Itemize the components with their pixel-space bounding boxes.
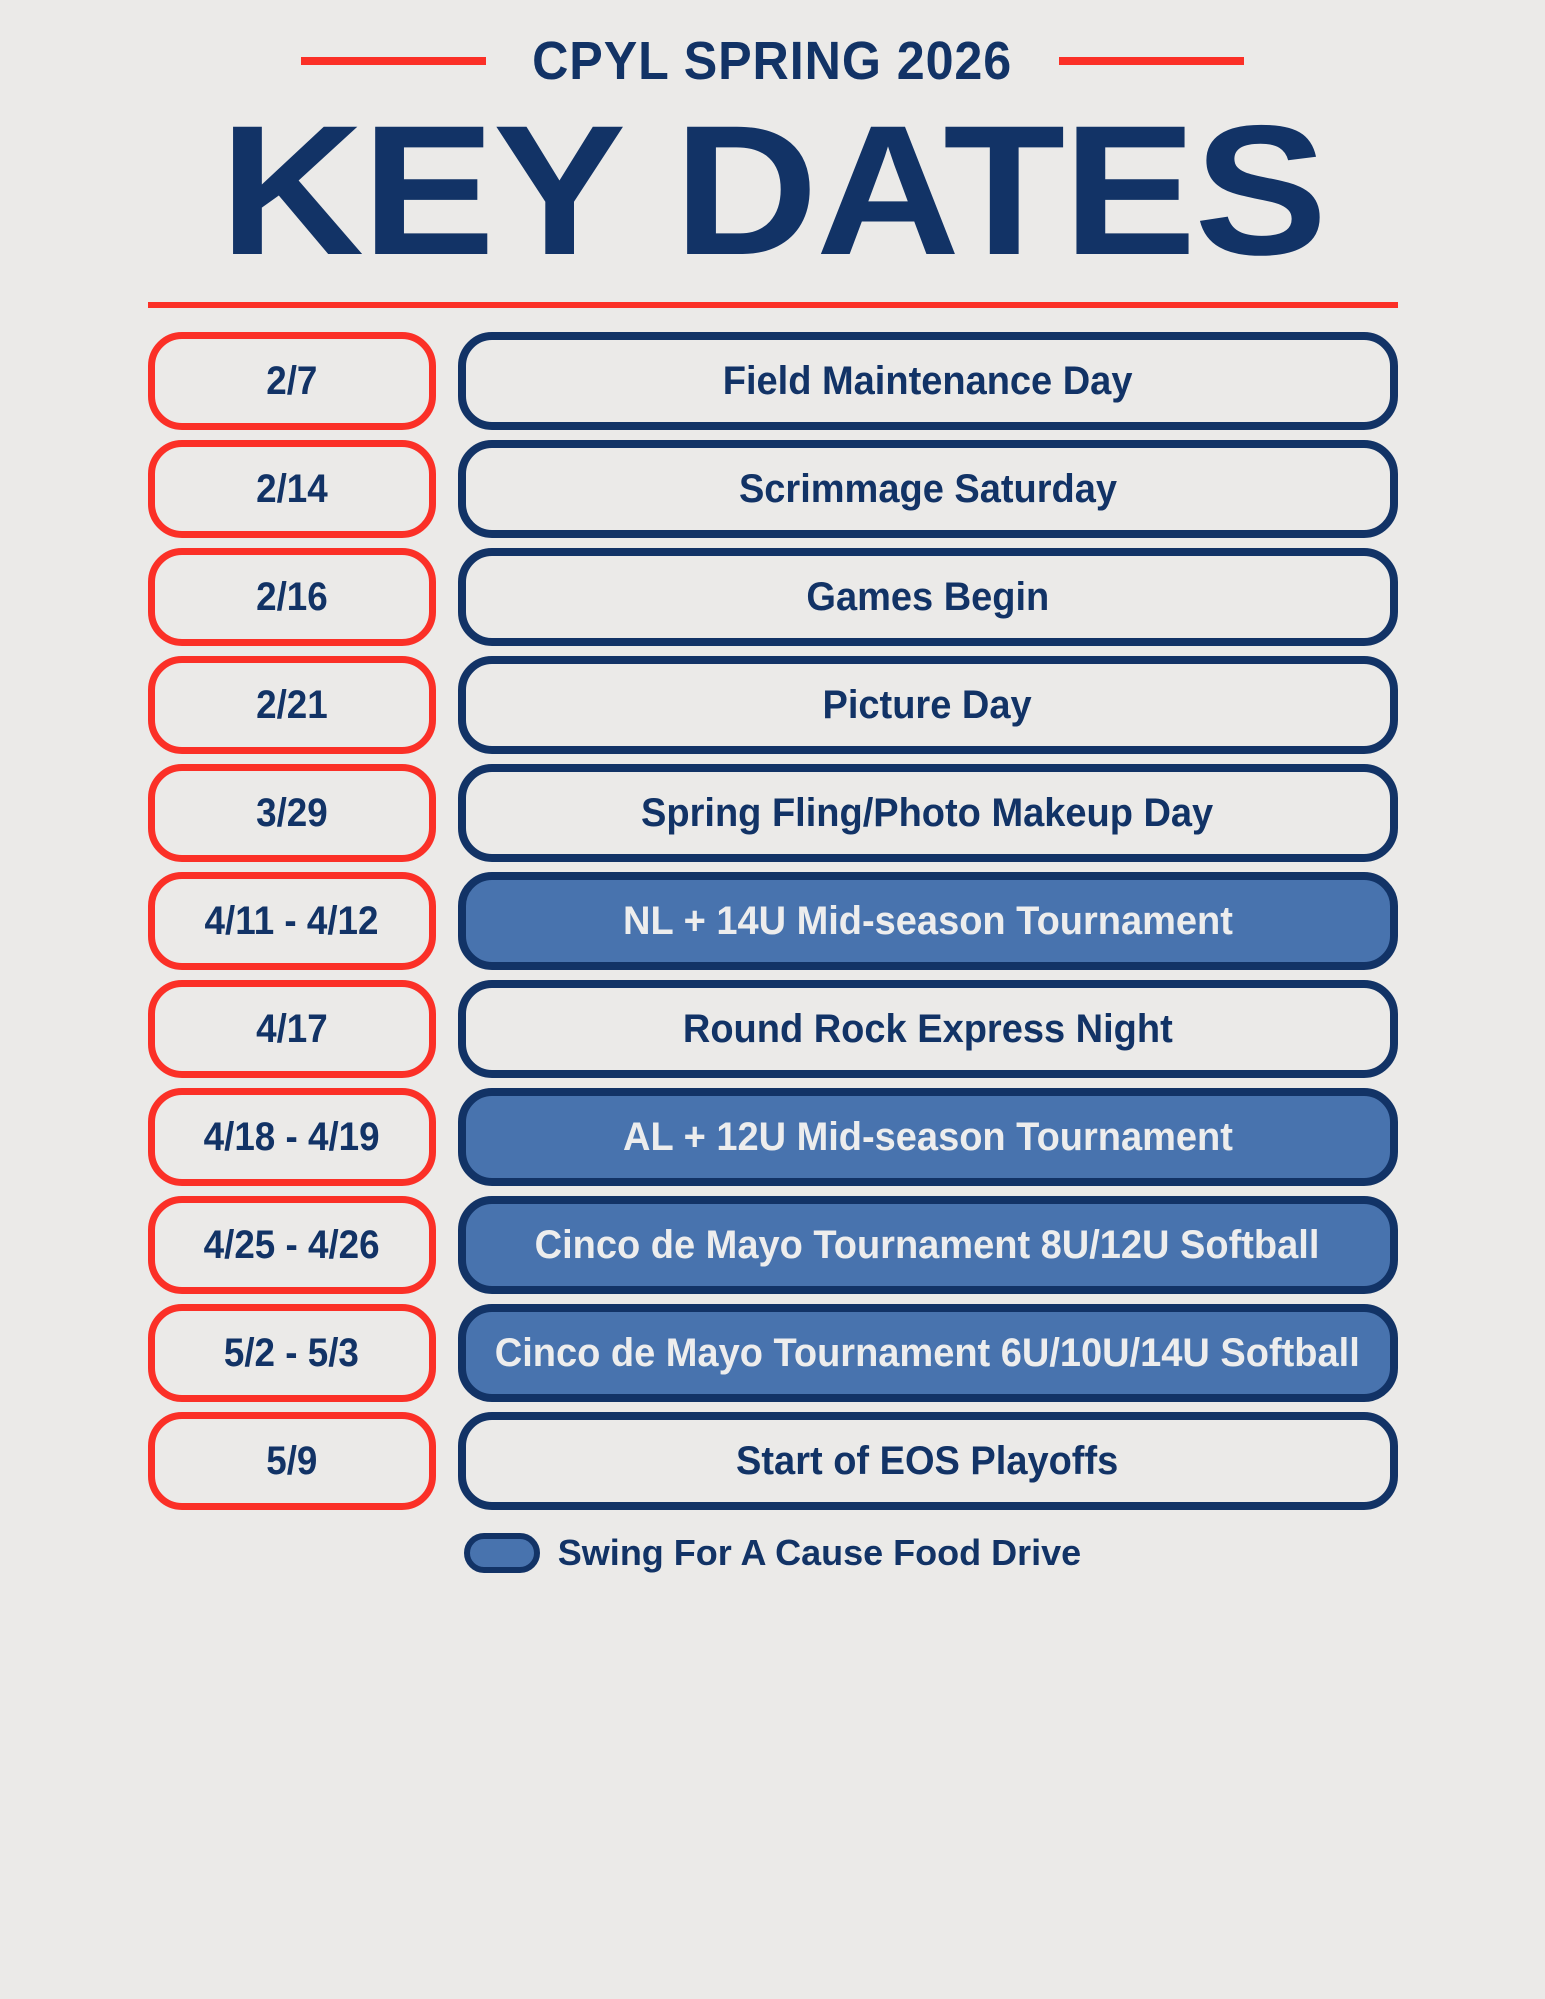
date-label: 4/25 - 4/26	[204, 1223, 380, 1268]
key-date-row: 2/21Picture Day	[148, 656, 1398, 754]
date-pill: 4/25 - 4/26	[148, 1196, 436, 1294]
event-pill-highlighted: NL + 14U Mid-season Tournament	[458, 872, 1398, 970]
key-date-row: 2/16Games Begin	[148, 548, 1398, 646]
key-dates-poster: CPYL SPRING 2026 KEY DATES 2/7Field Main…	[0, 0, 1545, 1999]
date-label: 2/16	[256, 575, 328, 620]
date-pill: 4/11 - 4/12	[148, 872, 436, 970]
date-pill: 2/21	[148, 656, 436, 754]
legend-swatch-food-drive	[464, 1533, 540, 1573]
eyebrow-text: CPYL SPRING 2026	[532, 30, 1012, 92]
date-pill: 5/2 - 5/3	[148, 1304, 436, 1402]
eyebrow-rule-right	[1059, 57, 1244, 65]
date-label: 4/17	[256, 1007, 328, 1052]
date-pill: 3/29	[148, 764, 436, 862]
event-label: Spring Fling/Photo Makeup Day	[641, 791, 1213, 836]
event-pill: Round Rock Express Night	[458, 980, 1398, 1078]
date-label: 4/18 - 4/19	[204, 1115, 380, 1160]
event-pill: Start of EOS Playoffs	[458, 1412, 1398, 1510]
date-pill: 4/18 - 4/19	[148, 1088, 436, 1186]
date-label: 2/21	[256, 683, 328, 728]
key-date-row: 5/2 - 5/3Cinco de Mayo Tournament 6U/10U…	[148, 1304, 1398, 1402]
event-pill: Spring Fling/Photo Makeup Day	[458, 764, 1398, 862]
date-pill: 2/7	[148, 332, 436, 430]
page-title: KEY DATES	[0, 106, 1545, 276]
title-divider	[148, 302, 1398, 308]
event-label: Cinco de Mayo Tournament 8U/12U Softball	[535, 1223, 1320, 1268]
date-pill: 4/17	[148, 980, 436, 1078]
eyebrow-rule-left	[301, 57, 486, 65]
event-label: AL + 12U Mid-season Tournament	[623, 1115, 1233, 1160]
poster-header: CPYL SPRING 2026 KEY DATES	[0, 0, 1545, 308]
event-label: Scrimmage Saturday	[738, 467, 1116, 512]
event-label: Picture Day	[823, 683, 1032, 728]
eyebrow-row: CPYL SPRING 2026	[148, 30, 1398, 92]
key-date-row: 4/11 - 4/12NL + 14U Mid-season Tournamen…	[148, 872, 1398, 970]
event-label: Cinco de Mayo Tournament 6U/10U/14U Soft…	[495, 1331, 1360, 1376]
event-label: Round Rock Express Night	[683, 1007, 1173, 1052]
date-pill: 2/14	[148, 440, 436, 538]
event-pill: Picture Day	[458, 656, 1398, 754]
date-pill: 2/16	[148, 548, 436, 646]
event-pill-highlighted: Cinco de Mayo Tournament 8U/12U Softball	[458, 1196, 1398, 1294]
key-dates-list: 2/7Field Maintenance Day2/14Scrimmage Sa…	[148, 332, 1398, 1510]
event-pill: Scrimmage Saturday	[458, 440, 1398, 538]
event-label: NL + 14U Mid-season Tournament	[623, 899, 1233, 944]
event-label: Field Maintenance Day	[723, 359, 1133, 404]
key-date-row: 4/18 - 4/19AL + 12U Mid-season Tournamen…	[148, 1088, 1398, 1186]
date-label: 5/9	[266, 1439, 317, 1484]
date-label: 2/14	[256, 467, 328, 512]
event-pill: Field Maintenance Day	[458, 332, 1398, 430]
key-date-row: 5/9Start of EOS Playoffs	[148, 1412, 1398, 1510]
date-label: 3/29	[256, 791, 328, 836]
legend: Swing For A Cause Food Drive	[148, 1532, 1398, 1574]
date-label: 4/11 - 4/12	[205, 899, 379, 944]
key-date-row: 2/14Scrimmage Saturday	[148, 440, 1398, 538]
event-pill-highlighted: AL + 12U Mid-season Tournament	[458, 1088, 1398, 1186]
event-pill: Games Begin	[458, 548, 1398, 646]
date-pill: 5/9	[148, 1412, 436, 1510]
key-date-row: 2/7Field Maintenance Day	[148, 332, 1398, 430]
event-label: Start of EOS Playoffs	[736, 1439, 1118, 1484]
date-label: 2/7	[266, 359, 317, 404]
key-date-row: 4/17Round Rock Express Night	[148, 980, 1398, 1078]
key-date-row: 4/25 - 4/26Cinco de Mayo Tournament 8U/1…	[148, 1196, 1398, 1294]
event-label: Games Begin	[806, 575, 1049, 620]
key-date-row: 3/29Spring Fling/Photo Makeup Day	[148, 764, 1398, 862]
event-pill-highlighted: Cinco de Mayo Tournament 6U/10U/14U Soft…	[458, 1304, 1398, 1402]
legend-label-food-drive: Swing For A Cause Food Drive	[558, 1532, 1081, 1574]
date-label: 5/2 - 5/3	[224, 1331, 359, 1376]
